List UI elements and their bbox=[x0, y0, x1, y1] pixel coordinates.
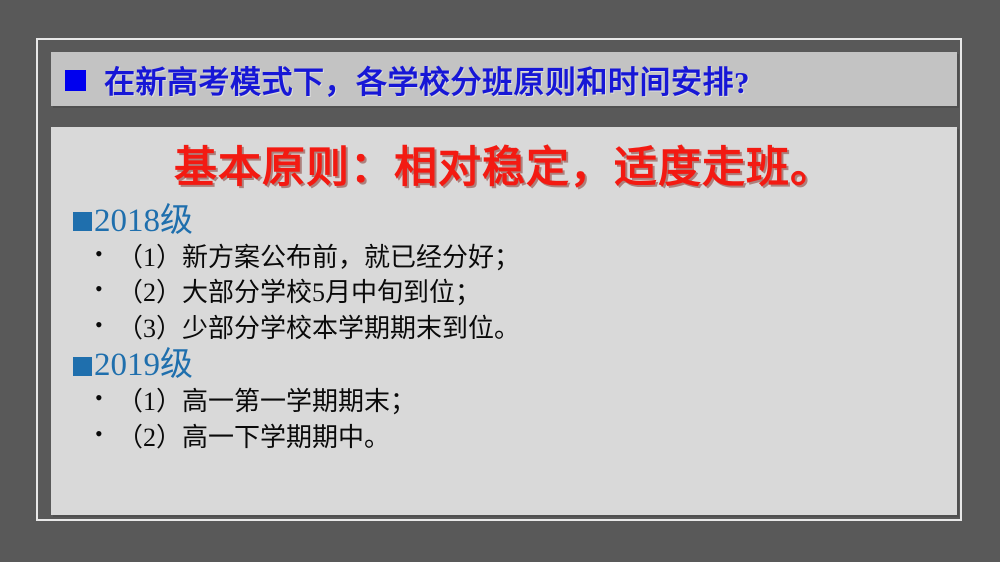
section-label-2018: 2018级 bbox=[94, 204, 193, 240]
section-label-2019: 2019级 bbox=[94, 348, 193, 384]
list-item: （3）少部分学校本学期期末到位。 bbox=[91, 311, 939, 347]
section-header-2018: 2018级 bbox=[73, 204, 939, 240]
bullet-list-2018: （1）新方案公布前，就已经分好； （2）大部分学校5月中旬到位； （3）少部分学… bbox=[69, 240, 939, 347]
list-item: （2）高一下学期期中。 bbox=[91, 420, 939, 456]
main-heading: 基本原则：相对稳定，适度走班。 bbox=[69, 147, 939, 190]
list-item: （2）大部分学校5月中旬到位； bbox=[91, 275, 939, 311]
list-item: （1）新方案公布前，就已经分好； bbox=[91, 240, 939, 276]
bullet-list-2019: （1）高一第一学期期末； （2）高一下学期期中。 bbox=[69, 384, 939, 455]
square-bullet-icon bbox=[65, 70, 86, 91]
slide-title-bar: 在新高考模式下，各学校分班原则和时间安排? bbox=[51, 52, 957, 106]
list-item: （1）高一第一学期期末； bbox=[91, 384, 939, 420]
square-bullet-icon bbox=[73, 212, 92, 231]
slide-content-box: 基本原则：相对稳定，适度走班。 2018级 （1）新方案公布前，就已经分好； （… bbox=[51, 127, 957, 515]
section-header-2019: 2019级 bbox=[73, 348, 939, 384]
square-bullet-icon bbox=[73, 357, 92, 376]
slide-canvas: 在新高考模式下，各学校分班原则和时间安排? 基本原则：相对稳定，适度走班。 20… bbox=[0, 0, 1000, 562]
page-title: 在新高考模式下，各学校分班原则和时间安排? bbox=[104, 57, 750, 102]
